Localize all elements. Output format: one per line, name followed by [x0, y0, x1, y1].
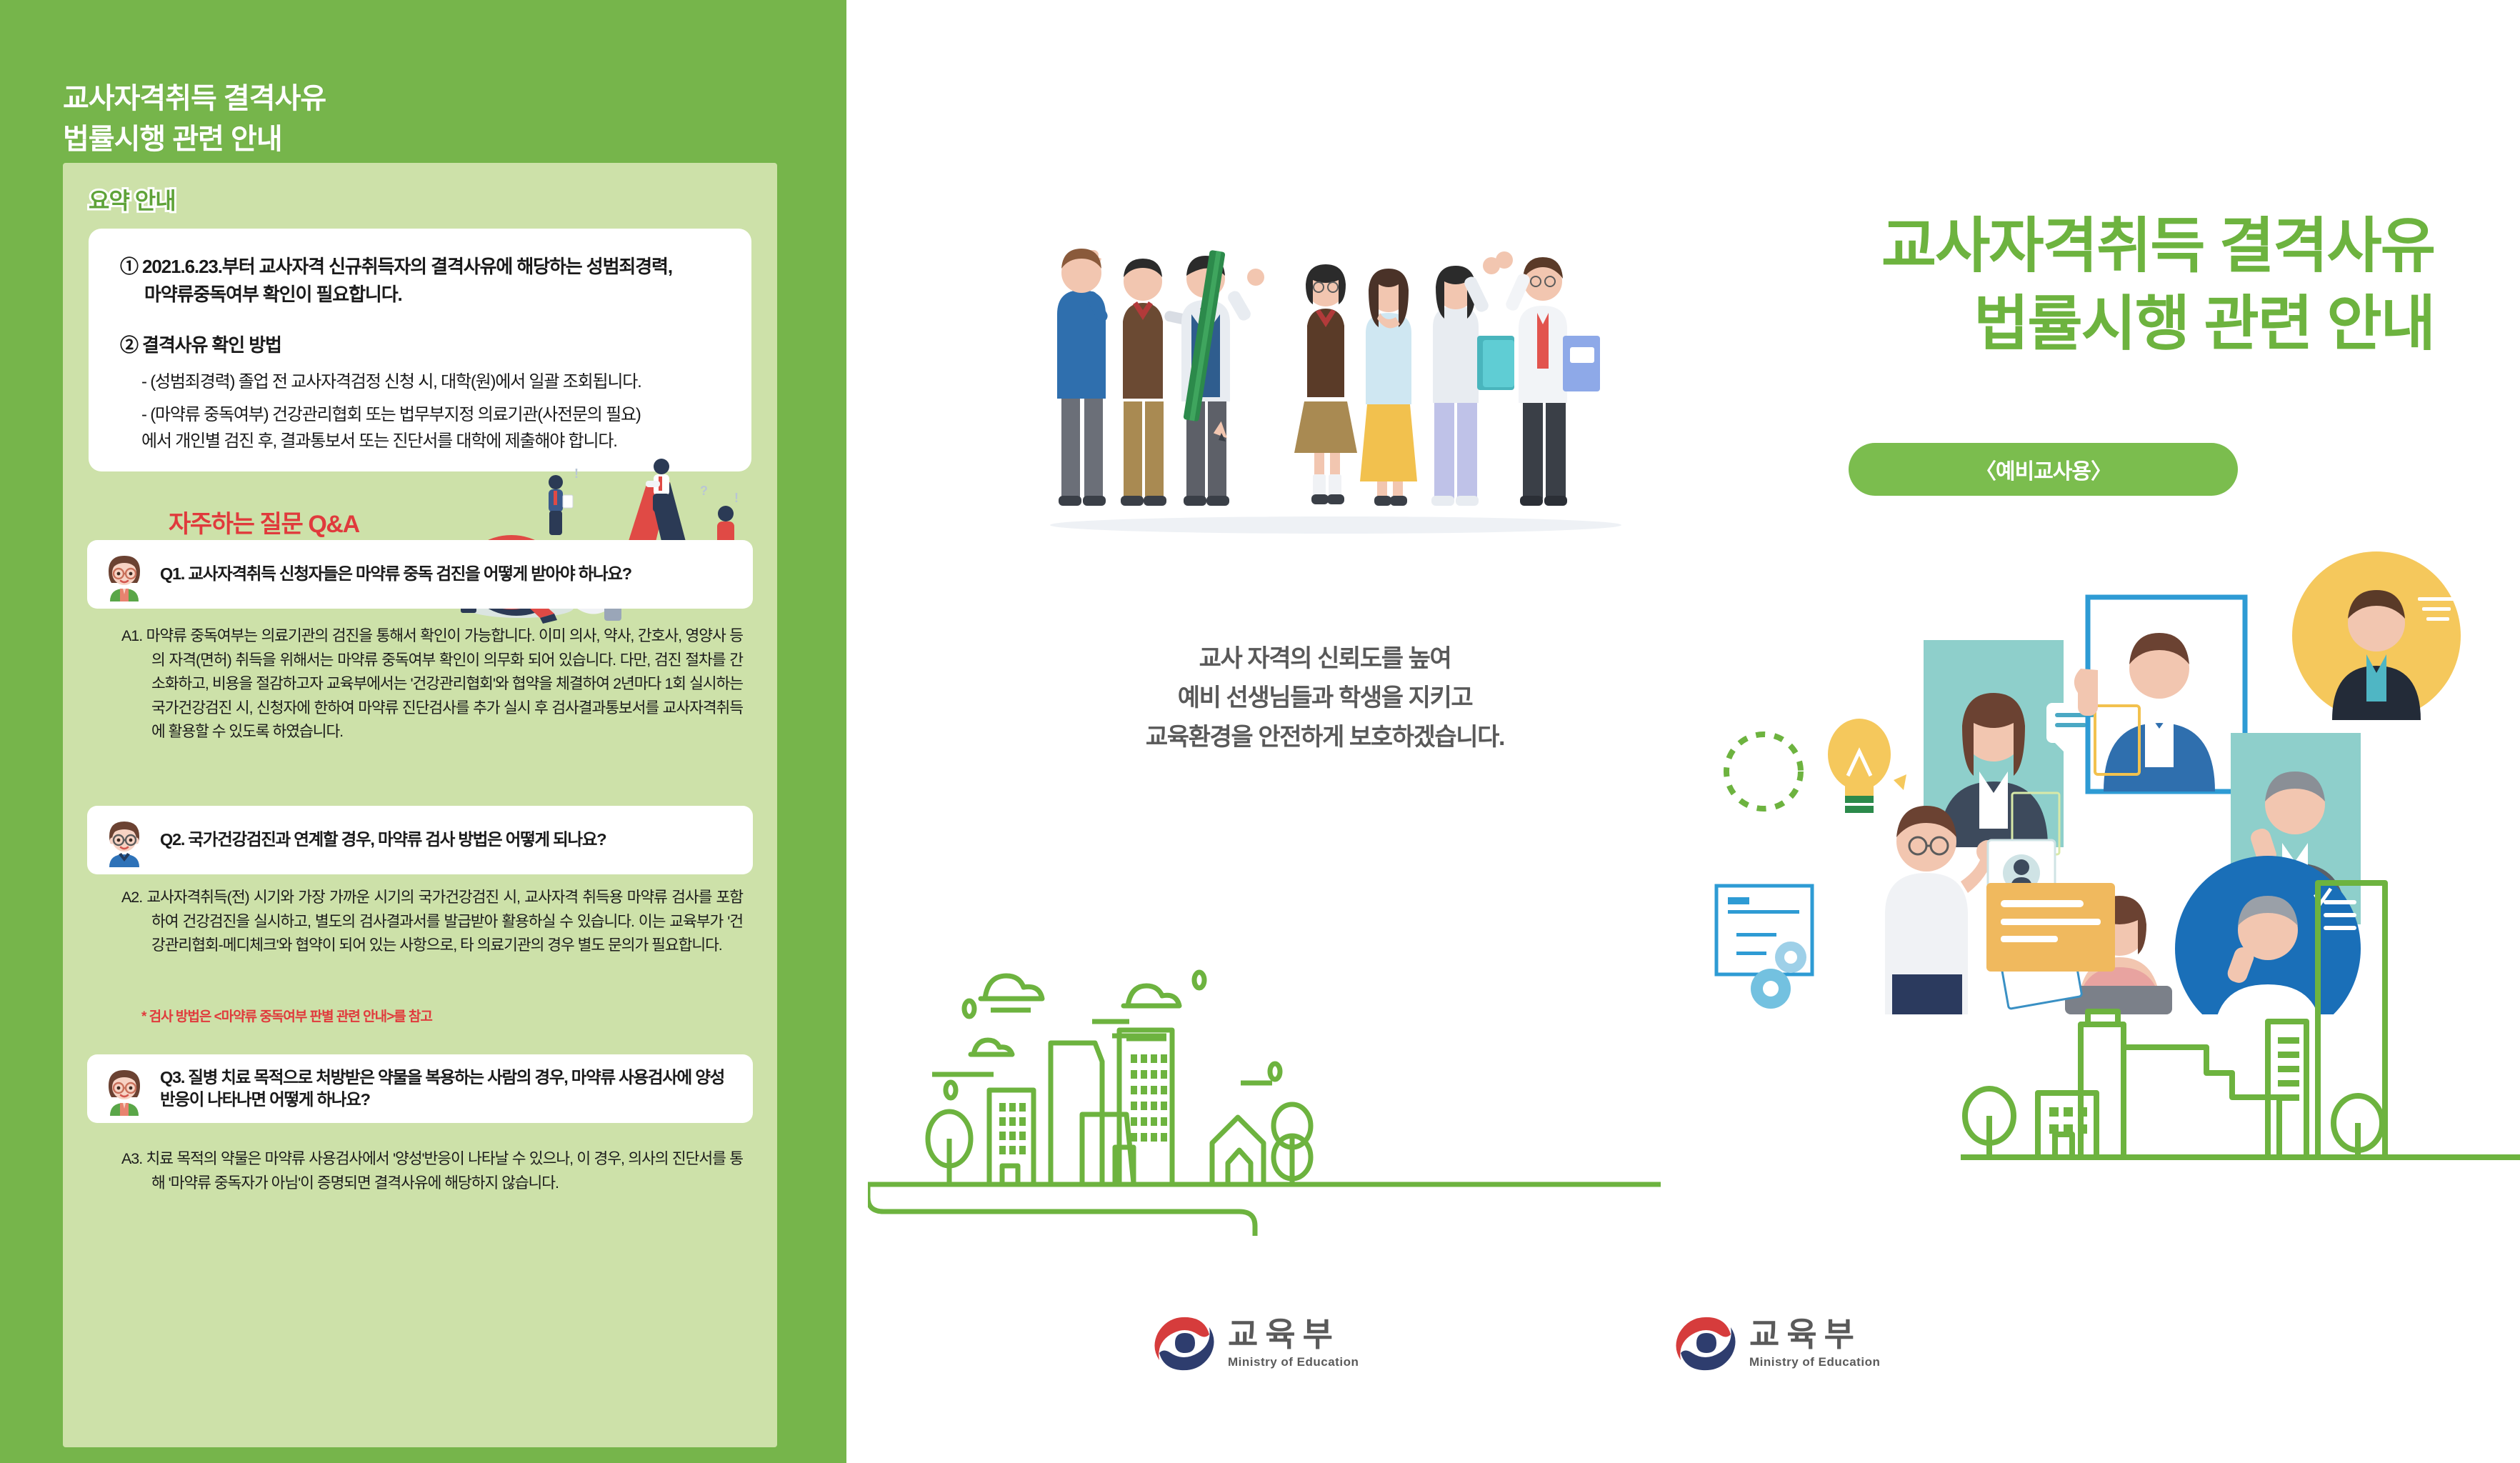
left-content-card: 요약 안내 ① 2021.6.23.부터 교사자격 신규취득자의 결격사유에 해…: [63, 163, 777, 1447]
qa-answer-2-note: * 검사 방법은 <마약류 중독여부 판별 관련 안내>를 참고: [141, 1006, 432, 1025]
ministry-logo-right: 교육부 Ministry of Education: [1675, 1313, 1880, 1374]
qa-question-3-text: Q3. 질병 치료 목적으로 처방받은 약물을 복용하는 사람의 경우, 마약류…: [160, 1067, 741, 1112]
qa-answer-3-text: A3. 치료 목적의 약물은 마약류 사용검사에서 '양성'반응이 나타날 수 …: [121, 1147, 743, 1195]
summary-box: ① 2021.6.23.부터 교사자격 신규취득자의 결격사유에 해당하는 성범…: [89, 229, 751, 471]
logo-text-block: 교육부 Ministry of Education: [1228, 1318, 1359, 1369]
left-header: 교사자격취득 결격사유 법률시행 관련 안내: [63, 79, 777, 160]
summary-item-1-line2: 마약류중독여부 확인이 필요합니다.: [120, 281, 720, 309]
qa-question-bar-2[interactable]: Q2. 국가건강검진과 연계할 경우, 마약류 검사 방법은 어떻게 되나요?: [87, 806, 753, 874]
left-header-title-line2: 법률시행 관련 안내: [63, 119, 777, 160]
cover-audience-badge: 〈예비교사용〉: [1849, 443, 2238, 496]
qa-answer-1-text: A1. 마약류 중독여부는 의료기관의 검진을 통해서 확인이 가능합니다. 이…: [121, 624, 743, 744]
taegeuk-logo-icon: [1154, 1313, 1215, 1374]
qa-question-2-text: Q2. 국가건강검진과 연계할 경우, 마약류 검사 방법은 어떻게 되나요?: [160, 829, 741, 851]
logo-english-name-2: Ministry of Education: [1749, 1355, 1880, 1369]
logo-english-name: Ministry of Education: [1228, 1355, 1359, 1369]
logo-text-block-2: 교육부 Ministry of Education: [1749, 1318, 1880, 1369]
qa-section-title: 자주하는 질문 Q&A: [169, 504, 359, 539]
logo-korean-name-2: 교육부: [1749, 1318, 1880, 1351]
summary-spacer: [120, 316, 720, 331]
tagline-line-2: 예비 선생님들과 학생을 지키고: [1039, 679, 1611, 718]
taegeuk-logo-icon-2: [1675, 1313, 1736, 1374]
ministry-logo-center: 교육부 Ministry of Education: [1154, 1313, 1359, 1374]
right-cover-panel: 교사자격취득 결격사유 법률시행 관련 안내 〈예비교사용〉 교사 자격의 신뢰…: [846, 0, 2520, 1463]
teachers-group-illustration: [1029, 207, 1643, 536]
tagline-line-1: 교사 자격의 신뢰도를 높여: [1039, 639, 1611, 679]
svg-text:!: !: [734, 491, 739, 505]
summary-item-2: ② 결격사유 확인 방법 - (성범죄경력) 졸업 전 교사자격검정 신청 시,…: [120, 331, 720, 454]
tagline-line-3: 교육환경을 안전하게 보호하겠습니다.: [1039, 718, 1611, 757]
svg-text:?: ?: [700, 484, 708, 498]
cover-tagline: 교사 자격의 신뢰도를 높여 예비 선생님들과 학생을 지키고 교육환경을 안전…: [1039, 639, 1611, 757]
male-avatar-icon: [97, 813, 151, 867]
summary-item-2-bullet-1: - (성범죄경력) 졸업 전 교사자격검정 신청 시, 대학(원)에서 일괄 조…: [120, 369, 720, 395]
logo-korean-name: 교육부: [1228, 1318, 1359, 1351]
qa-question-1-text: Q1. 교사자격취득 신청자들은 마약류 중독 검진을 어떻게 받아야 하나요?: [160, 563, 741, 585]
left-brochure-panel: 교사자격취득 결격사유 법률시행 관련 안내 요약 안내 ① 2021.6.23…: [0, 0, 846, 1463]
qa-answer-2-text: A2. 교사자격취득(전) 시기와 가장 가까운 시기의 국가건강검진 시, 교…: [121, 886, 743, 958]
summary-item-2-bullet-2-line1: - (마약류 중독여부) 건강관리협회 또는 법무부지정 의료기관(사전문의 필…: [120, 402, 720, 428]
left-header-title-line1: 교사자격취득 결격사유: [63, 79, 777, 119]
cover-title: 교사자격취득 결격사유 법률시행 관련 안내: [1577, 207, 2434, 363]
summary-item-2-title: ② 결격사유 확인 방법: [120, 331, 720, 359]
svg-text:!: !: [574, 466, 579, 481]
qa-question-bar-3[interactable]: Q3. 질병 치료 목적으로 처방받은 약물을 복용하는 사람의 경우, 마약류…: [87, 1054, 753, 1123]
female-avatar-icon-2: [97, 1062, 151, 1116]
city-skyline-right-illustration: [1961, 850, 2520, 1250]
summary-item-1-line1: ① 2021.6.23.부터 교사자격 신규취득자의 결격사유에 해당하는 성범…: [120, 253, 720, 281]
cover-title-line2: 법률시행 관련 안내: [1577, 285, 2434, 363]
city-skyline-left-illustration: [868, 922, 1661, 1236]
qa-question-bar-1[interactable]: Q1. 교사자격취득 신청자들은 마약류 중독 검진을 어떻게 받아야 하나요?: [87, 540, 753, 609]
summary-section-label: 요약 안내: [89, 183, 176, 216]
cover-title-line1: 교사자격취득 결격사유: [1577, 207, 2434, 285]
female-avatar-icon: [97, 547, 151, 601]
summary-item-1: ① 2021.6.23.부터 교사자격 신규취득자의 결격사유에 해당하는 성범…: [120, 253, 720, 309]
